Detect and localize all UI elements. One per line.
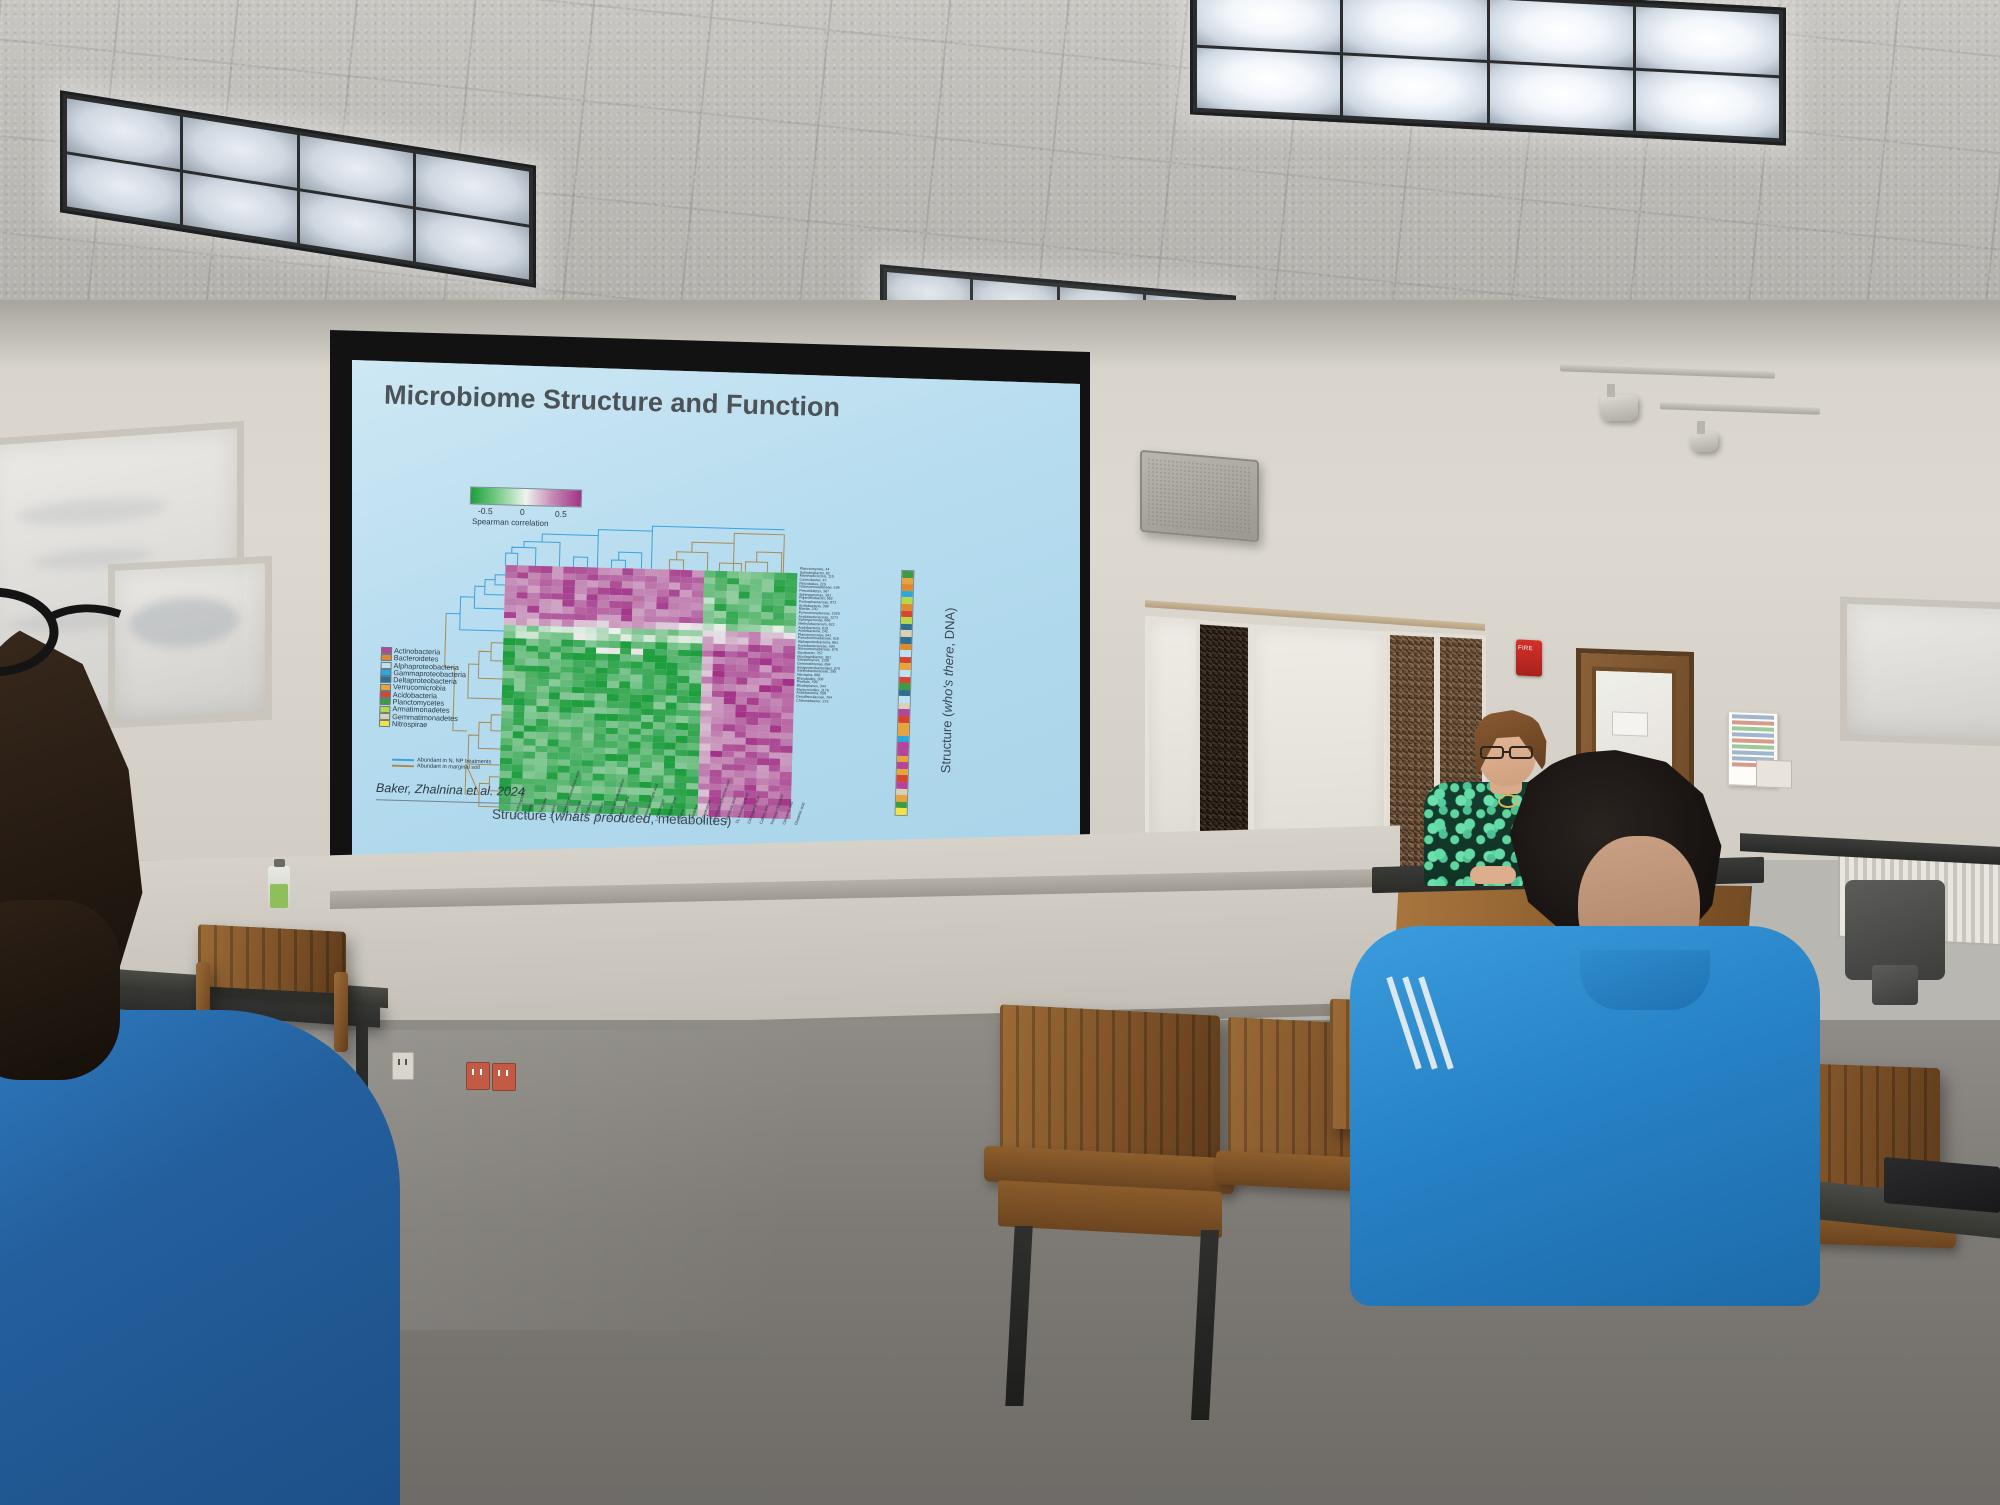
- x-axis-label-part2: , metabolites): [650, 811, 731, 828]
- foreground-glasses-icon: [0, 570, 124, 690]
- y-axis-label-part1: Structure (: [938, 712, 955, 773]
- student-blue-jacket: [1460, 750, 1820, 1310]
- foreground-shoulder: [0, 1010, 400, 1505]
- fire-alarm[interactable]: FIRE: [1516, 639, 1542, 676]
- heatmap-row-labels: Planctomycete, 44Solirubrobacter, 82Mamm…: [796, 568, 898, 706]
- colorbar-gradient: [470, 486, 582, 507]
- x-axis-label-italic: whats produced: [555, 808, 651, 826]
- y-axis-label-part2: , DNA): [942, 607, 958, 646]
- fire-alarm-label: FIRE: [1518, 645, 1533, 652]
- x-axis-label-part1: Structure (: [492, 807, 555, 824]
- door-sign: [1612, 711, 1648, 736]
- column-dendrogram: [501, 519, 794, 573]
- slide-title: Microbiome Structure and Function: [384, 380, 841, 424]
- chair-back[interactable]: [1000, 1004, 1220, 1166]
- projector-screen: Microbiome Structure and Function -0.5 0…: [352, 348, 1080, 860]
- lecture-hall-photo: Microbiome Structure and Function -0.5 0…: [0, 0, 2000, 1505]
- dendrogram-legend-label: Abundant in marginal soil: [417, 763, 480, 771]
- wall-speaker: [1140, 450, 1259, 542]
- jacket-collar: [1580, 950, 1710, 1010]
- spotlight-fixture: [1600, 395, 1638, 421]
- taxonomy-strip-cell: [896, 808, 907, 815]
- y-axis-label-italic: who's there: [940, 646, 957, 712]
- colorbar-tick-low: -0.5: [478, 506, 493, 516]
- student-foreground: [0, 620, 400, 1505]
- colorbar-tick-mid: 0: [520, 507, 525, 517]
- slide-surface: Microbiome Structure and Function -0.5 0…: [352, 348, 1080, 860]
- correlation-heatmap: [499, 565, 798, 819]
- dendrogram-legend: Abundant in N, NP treatmentsAbundant in …: [392, 757, 492, 772]
- spotlight-fixture: [1690, 432, 1718, 452]
- whiteboard-right: [1840, 597, 2000, 748]
- heatmap-column-label: Glutamic acid: [793, 802, 806, 826]
- power-outlet: [492, 1063, 516, 1091]
- foreground-hair-lower: [0, 900, 120, 1080]
- taxonomy-color-strip: [895, 570, 915, 816]
- power-outlet: [466, 1062, 490, 1090]
- office-chair-base: [1872, 965, 1918, 1005]
- y-axis-label: Structure (who's there, DNA): [938, 607, 958, 773]
- colorbar-tick-high: 0.5: [555, 509, 567, 519]
